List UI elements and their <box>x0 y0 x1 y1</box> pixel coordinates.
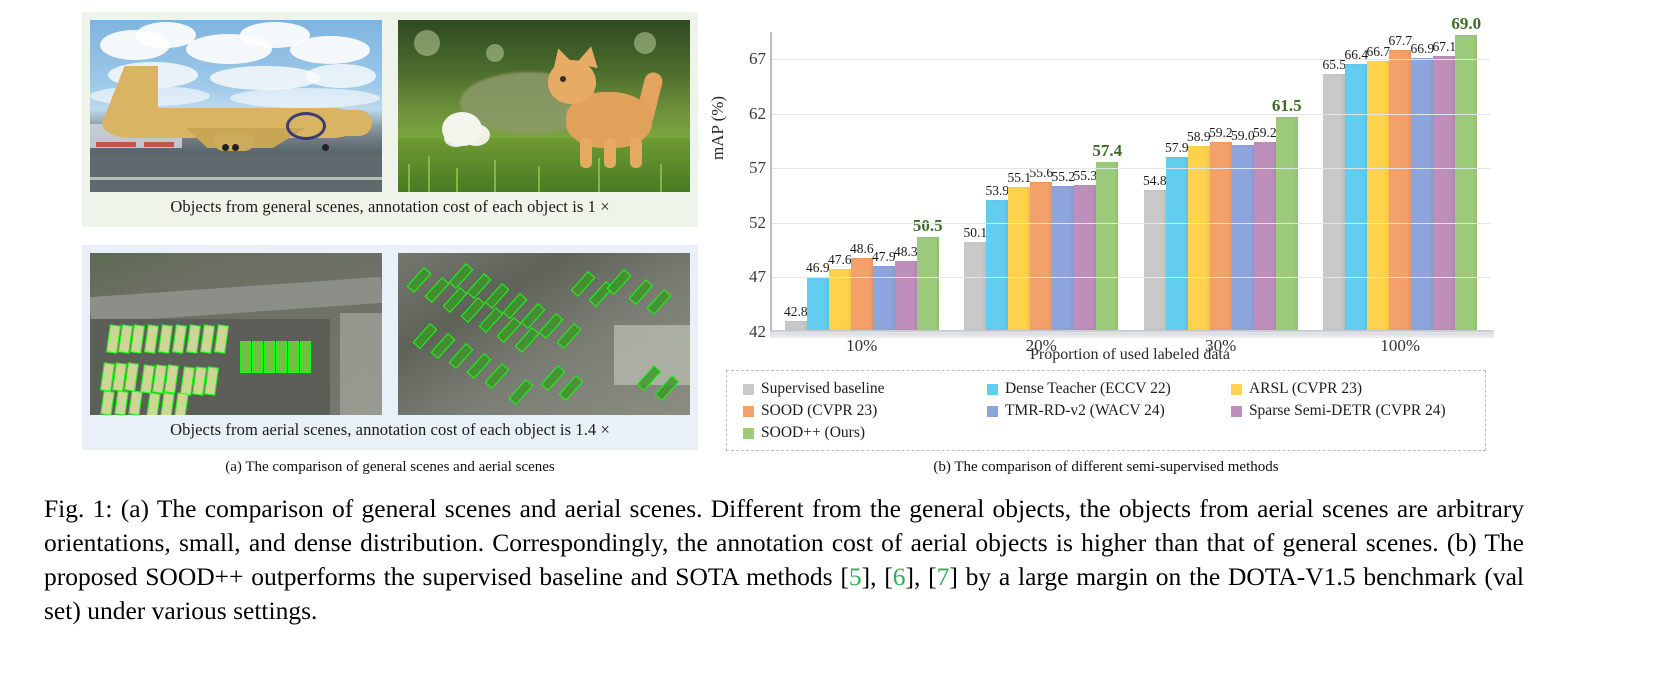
bar-fill <box>1345 64 1367 330</box>
bar-fill <box>1096 162 1118 330</box>
bar-sood-100pct: 69.0 <box>1455 35 1477 330</box>
bar-fill <box>1052 186 1074 330</box>
bar-fill <box>785 321 807 330</box>
general-scenes-image-row <box>90 20 690 192</box>
bar-fill <box>873 266 895 330</box>
bar-sood-20pct: 57.4 <box>1096 162 1118 330</box>
y-tick-label: 57 <box>749 158 766 178</box>
bar-sparse-30pct: 59.2 <box>1254 142 1276 330</box>
legend-swatch <box>1231 384 1242 395</box>
legend-item: ARSL (CVPR 23) <box>1231 378 1475 400</box>
bar-fill <box>1367 61 1389 330</box>
bar-value-label: 57.4 <box>1084 141 1130 161</box>
legend-label: SOOD++ (Ours) <box>761 424 865 442</box>
legend-swatch <box>987 384 998 395</box>
y-tick-label: 67 <box>749 49 766 69</box>
bar-sood-30pct: 59.2 <box>1210 142 1232 330</box>
bar-group: 50.153.955.155.655.255.357.420% <box>952 32 1132 330</box>
chart-legend: Supervised baselineDense Teacher (ECCV 2… <box>726 370 1486 451</box>
bar-dense-20pct: 53.9 <box>986 200 1008 330</box>
aerial-vehicles-photo <box>398 253 690 415</box>
bar-sood-100pct: 67.7 <box>1389 50 1411 330</box>
legend-label: Supervised baseline <box>761 380 885 398</box>
legend-item: Sparse Semi-DETR (CVPR 24) <box>1231 400 1475 422</box>
bar-fill <box>1074 185 1096 330</box>
chart-plot-area: 42.846.947.648.647.948.350.510%50.153.95… <box>770 32 1490 332</box>
citation-link[interactable]: 6 <box>893 562 906 591</box>
grid-line <box>772 223 1490 224</box>
figure-caption: Fig. 1: (a) The comparison of general sc… <box>44 492 1524 628</box>
legend-item: Dense Teacher (ECCV 22) <box>987 378 1231 400</box>
bar-supervised-100pct: 65.5 <box>1323 74 1345 330</box>
legend-label: Dense Teacher (ECCV 22) <box>1005 380 1171 398</box>
caption-text: ], [ <box>862 562 893 591</box>
bar-fill <box>851 258 873 330</box>
bar-arsl-100pct: 66.7 <box>1367 61 1389 330</box>
airplane-photo <box>90 20 382 192</box>
legend-label: SOOD (CVPR 23) <box>761 402 877 420</box>
chart-y-axis-ticks: 424752576267 <box>720 32 766 332</box>
bar-fill <box>807 277 829 330</box>
bar-dense-100pct: 66.4 <box>1345 64 1367 330</box>
bar-fill <box>1455 35 1477 330</box>
legend-item: Supervised baseline <box>743 378 987 400</box>
chart-x-axis-label: Proportion of used labeled data <box>770 346 1490 364</box>
caption-text: ], [ <box>905 562 936 591</box>
legend-item: SOOD (CVPR 23) <box>743 400 987 422</box>
bar-fill <box>1433 56 1455 330</box>
legend-label: ARSL (CVPR 23) <box>1249 380 1362 398</box>
bar-fill <box>1008 187 1030 330</box>
bar-group: 54.857.958.959.259.059.261.530% <box>1131 32 1311 330</box>
legend-item: SOOD++ (Ours) <box>743 422 987 444</box>
subcaption-a: (a) The comparison of general scenes and… <box>82 459 698 476</box>
bar-fill <box>964 242 986 330</box>
aerial-scenes-band: Objects from aerial scenes, annotation c… <box>82 245 698 450</box>
legend-swatch <box>743 428 754 439</box>
grid-line <box>772 332 1490 333</box>
aerial-band-caption: Objects from aerial scenes, annotation c… <box>90 420 690 440</box>
legend-swatch <box>1231 406 1242 417</box>
bar-fill <box>986 200 1008 330</box>
aerial-buses-photo <box>90 253 382 415</box>
bar-tmrrdv2-100pct: 66.9 <box>1411 58 1433 330</box>
grid-line <box>772 114 1490 115</box>
grid-line <box>772 168 1490 169</box>
bar-fill <box>1411 58 1433 330</box>
general-scenes-band: Objects from general scenes, annotation … <box>82 12 698 227</box>
grid-line <box>772 277 1490 278</box>
bar-supervised-10pct: 42.8 <box>785 321 807 330</box>
legend-item: TMR-RD-v2 (WACV 24) <box>987 400 1231 422</box>
y-tick-label: 47 <box>749 267 766 287</box>
bar-group: 42.846.947.648.647.948.350.510% <box>772 32 952 330</box>
citation-link[interactable]: 5 <box>849 562 862 591</box>
legend-label: TMR-RD-v2 (WACV 24) <box>1005 402 1165 420</box>
legend-label: Sparse Semi-DETR (CVPR 24) <box>1249 402 1446 420</box>
bar-value-label: 69.0 <box>1443 14 1489 34</box>
bar-arsl-20pct: 55.1 <box>1008 187 1030 330</box>
bar-sood-20pct: 55.6 <box>1030 182 1052 330</box>
bar-dense-10pct: 46.9 <box>807 277 829 330</box>
panel-a-scene-comparison: Objects from general scenes, annotation … <box>82 12 698 452</box>
bar-arsl-30pct: 58.9 <box>1188 146 1210 330</box>
bar-fill <box>1323 74 1345 330</box>
bar-tmrrdv2-10pct: 47.9 <box>873 266 895 330</box>
bar-supervised-20pct: 50.1 <box>964 242 986 330</box>
figure-1: Objects from general scenes, annotation … <box>0 0 1653 691</box>
y-tick-label: 62 <box>749 104 766 124</box>
bar-value-label: 50.5 <box>905 216 951 236</box>
aerial-scenes-image-row <box>90 253 690 415</box>
bar-tmrrdv2-20pct: 55.2 <box>1052 186 1074 330</box>
bar-fill <box>1389 50 1411 330</box>
bar-sood-10pct: 50.5 <box>917 237 939 330</box>
bar-fill <box>1188 146 1210 330</box>
bar-fill <box>1232 145 1254 330</box>
general-band-caption: Objects from general scenes, annotation … <box>90 197 690 217</box>
citation-link[interactable]: 7 <box>937 562 950 591</box>
chart-bar-groups: 42.846.947.648.647.948.350.510%50.153.95… <box>772 32 1490 330</box>
legend-swatch <box>743 406 754 417</box>
bar-sparse-10pct: 48.3 <box>895 261 917 330</box>
legend-swatch <box>743 384 754 395</box>
y-tick-label: 42 <box>749 322 766 342</box>
legend-swatch <box>987 406 998 417</box>
bar-fill <box>1030 182 1052 330</box>
bar-fill <box>895 261 917 330</box>
bar-sparse-100pct: 67.1 <box>1433 56 1455 330</box>
bar-sparse-20pct: 55.3 <box>1074 185 1096 330</box>
y-tick-label: 52 <box>749 213 766 233</box>
bar-fill <box>917 237 939 330</box>
bar-fill <box>1210 142 1232 330</box>
subcaption-b: (b) The comparison of different semi-sup… <box>706 459 1506 476</box>
panel-b-chart: mAP (%) 424752576267 42.846.947.648.647.… <box>706 10 1506 455</box>
bar-fill <box>1254 142 1276 330</box>
grid-line <box>772 59 1490 60</box>
kitten-photo <box>398 20 690 192</box>
bar-sood-10pct: 48.6 <box>851 258 873 330</box>
bar-group: 65.566.466.767.766.967.169.0100% <box>1311 32 1491 330</box>
bar-dense-30pct: 57.9 <box>1166 157 1188 330</box>
bar-supervised-30pct: 54.8 <box>1144 190 1166 330</box>
bar-tmrrdv2-30pct: 59.0 <box>1232 145 1254 330</box>
bar-fill <box>1166 157 1188 330</box>
bar-fill <box>1144 190 1166 330</box>
